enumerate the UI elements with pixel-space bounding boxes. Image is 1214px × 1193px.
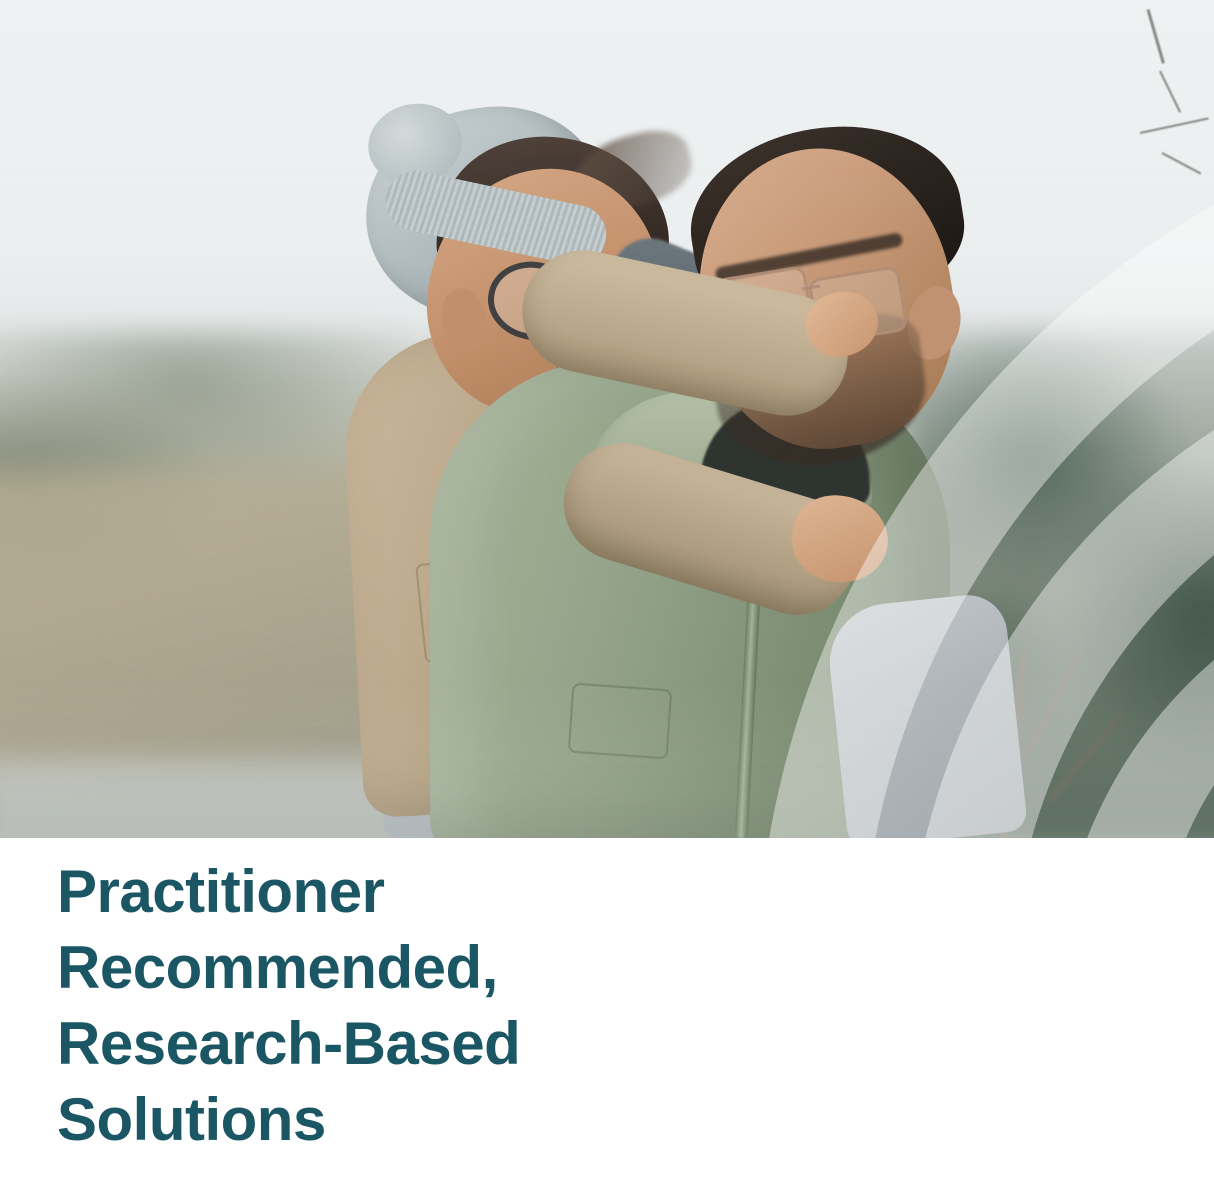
promo-banner: Practitioner Recommended, Research-Based… (0, 0, 1214, 1193)
headline-panel: Practitioner Recommended, Research-Based… (0, 838, 1214, 1193)
page-title: Practitioner Recommended, Research-Based… (57, 854, 520, 1158)
boy-leg (824, 591, 1028, 838)
man-jacket-pocket (568, 683, 673, 760)
hero-photo (0, 0, 1214, 838)
